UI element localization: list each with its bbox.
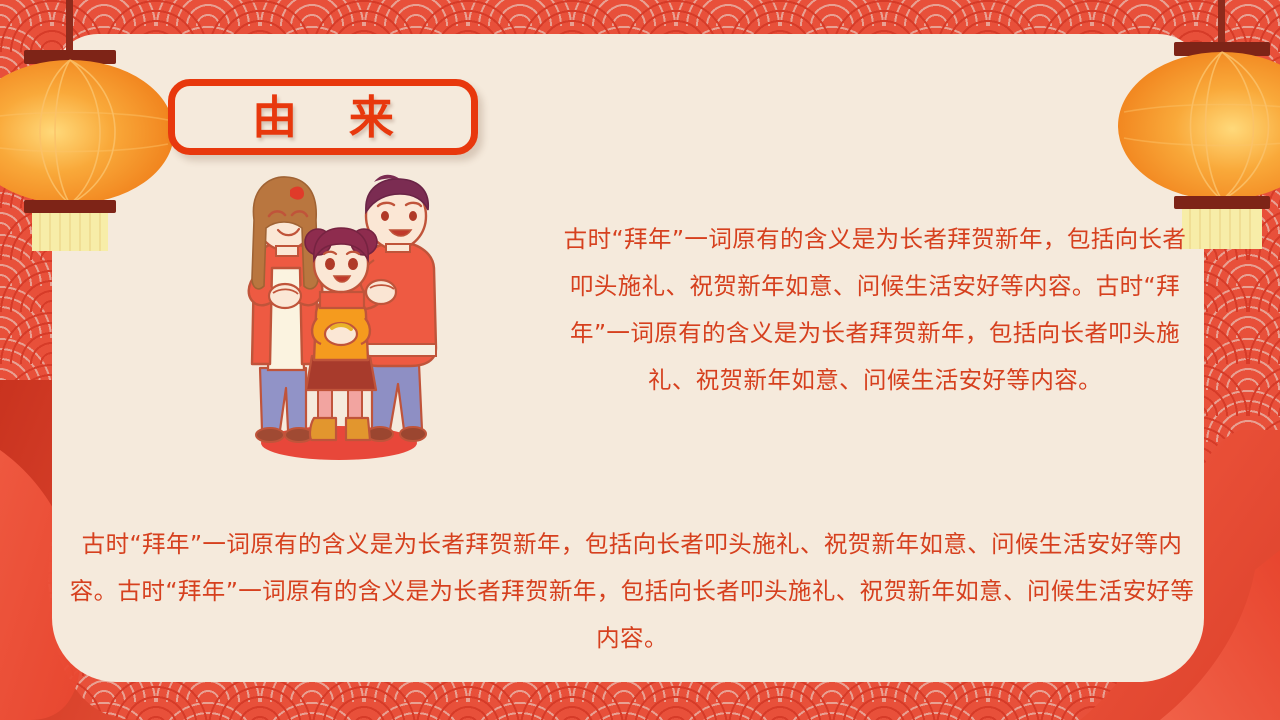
section-title-badge: 由 来 — [168, 79, 478, 155]
paragraph-right: 古时“拜年”一词原有的含义是为长者拜贺新年，包括向长者叩头施礼、祝贺新年如意、问… — [560, 216, 1190, 404]
paragraph-bottom: 古时“拜年”一词原有的含义是为长者拜贺新年，包括向长者叩头施礼、祝贺新年如意、问… — [66, 521, 1198, 662]
slide-root: 由 来 — [0, 0, 1280, 720]
page-title: 由 来 — [234, 95, 412, 140]
